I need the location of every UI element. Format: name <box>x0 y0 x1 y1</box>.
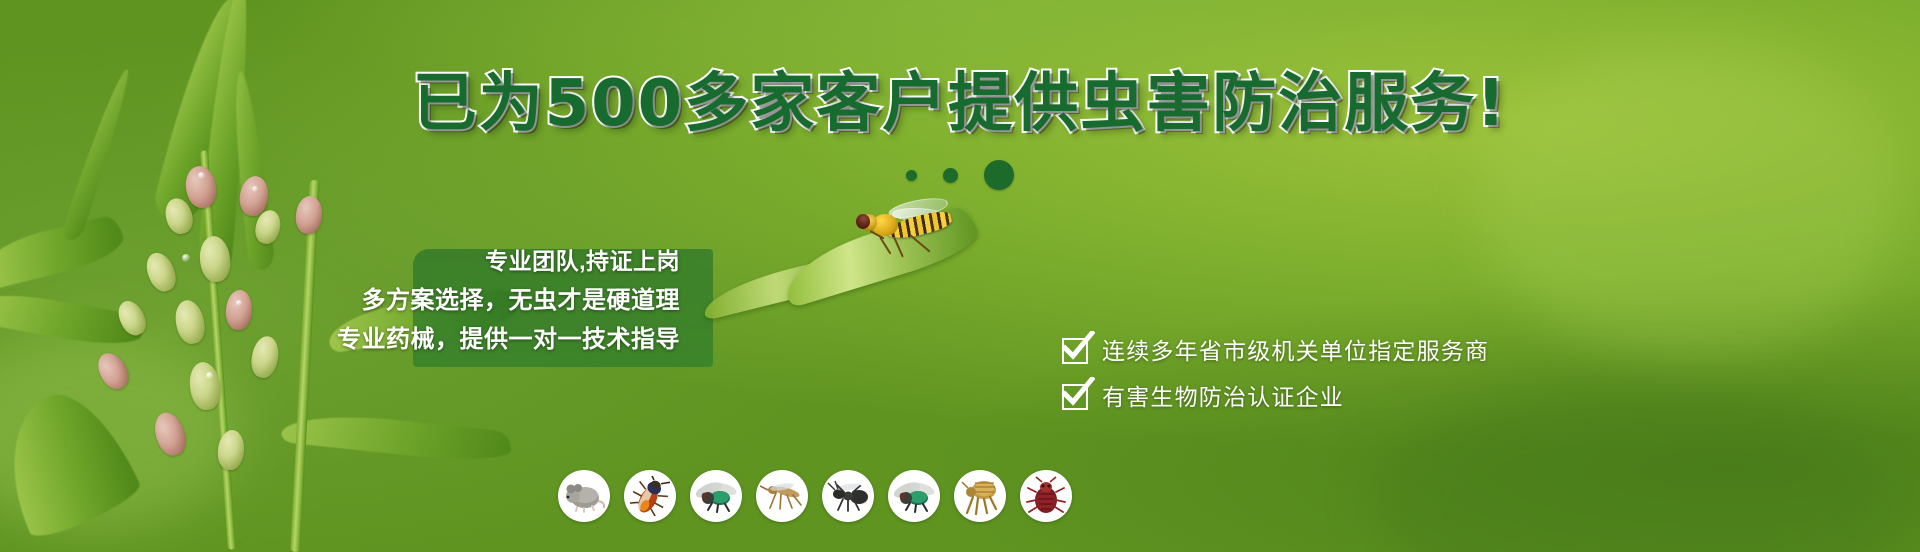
headline-wrap: 已为500多家客户提供虫害防治服务! <box>0 72 1920 136</box>
pest-icon-mouse[interactable] <box>558 470 610 522</box>
pest-icon-fly[interactable] <box>690 470 742 522</box>
decor-dots-row <box>0 160 1920 190</box>
pest-icon-bedbug[interactable] <box>1020 470 1072 522</box>
fly-icon <box>888 470 940 522</box>
claim-line-3: 专业药械，提供一对一技术指导 <box>0 323 680 356</box>
hoverfly-illustration <box>846 196 966 260</box>
hoverfly-eye <box>856 214 870 229</box>
promo-banner: 已为500多家客户提供虫害防治服务! 专业团队,持证上岗 多方案选择，无虫才是硬… <box>0 0 1920 552</box>
hoverfly-leg <box>893 237 904 258</box>
list-item: 有害生物防治认证企业 <box>1062 384 1489 410</box>
hoverfly-leg <box>909 234 930 252</box>
claim-line-1: 专业团队,持证上岗 <box>0 246 680 278</box>
pest-icon-mosquito[interactable] <box>756 470 808 522</box>
pest-icon-flea[interactable] <box>954 470 1006 522</box>
flea-icon <box>954 470 1006 522</box>
pest-icon-cockroach[interactable] <box>624 470 676 522</box>
claim-line-2: 多方案选择，无虫才是硬道理 <box>0 284 680 317</box>
certification-label: 有害生物防治认证企业 <box>1102 386 1344 409</box>
mouse-icon <box>558 470 610 522</box>
hoverfly-leg <box>879 236 891 254</box>
decor-dot-large <box>984 160 1014 190</box>
claims-panel-text: 专业团队,持证上岗 多方案选择，无虫才是硬道理 专业药械，提供一对一技术指导 <box>0 246 716 356</box>
check-box-icon <box>1062 384 1088 410</box>
pest-icon-ant[interactable] <box>822 470 874 522</box>
mosquito-icon <box>756 470 808 522</box>
check-box-icon <box>1062 338 1088 364</box>
bedbug-icon <box>1020 470 1072 522</box>
decor-dot-medium <box>943 168 958 183</box>
decor-dot-small <box>906 170 917 181</box>
pest-icon-row <box>558 470 1072 522</box>
cockroach-icon <box>624 470 676 522</box>
page-title: 已为500多家客户提供虫害防治服务! <box>413 72 1508 136</box>
ant-icon <box>822 470 874 522</box>
pest-icon-fly-2[interactable] <box>888 470 940 522</box>
certification-list: 连续多年省市级机关单位指定服务商 有害生物防治认证企业 <box>1062 338 1489 410</box>
fly-icon <box>690 470 742 522</box>
list-item: 连续多年省市级机关单位指定服务商 <box>1062 338 1489 364</box>
certification-label: 连续多年省市级机关单位指定服务商 <box>1102 340 1489 363</box>
